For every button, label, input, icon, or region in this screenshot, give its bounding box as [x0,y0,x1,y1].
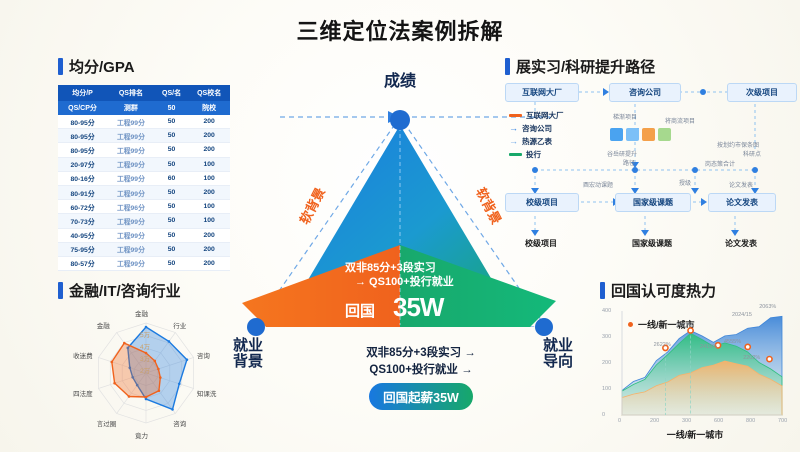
flow-diagram: 互联网大厂 咨询公司 次级项目 校级项目 国家级课题 论文发表 校级项目 国家级… [505,80,795,270]
radar-point [157,368,160,371]
flow-mini-icon-1[interactable] [626,128,639,141]
radar-point [128,395,131,398]
table-head: 均分/P QS排名 QS/名 QS校名 QS/CP分 测群 50 院校 [58,85,230,115]
flow-small-label-4: 路径 [623,158,635,167]
slide-canvas: 三维定位法案例拆解 均分/GPA 均分/P QS排名 QS/名 QS校名 QS/… [0,0,800,452]
caption-pill[interactable]: 回国起薪35W [369,383,473,410]
flow-legend-label: 热源乙表 [522,136,552,147]
table-cell: 50 [155,256,189,270]
y-tick-label: 0 [602,412,605,418]
flow-legend-item[interactable]: →热源乙表 [509,136,552,147]
vertex-dot-right[interactable] [535,318,553,336]
table-row: 75-95分工程99分50200 [58,242,230,256]
radar-axis-label: 金融 [97,320,110,330]
table-row: 80-95分工程99分50200 [58,115,230,129]
th-0: 均分/P [58,85,107,101]
table-cell: 50 [155,228,189,242]
radar-point [123,342,126,345]
area-annotation: 2419% [700,344,717,350]
flow-small-label-9: 论文发表 [729,180,753,189]
flow-caption-1: 国家级课题 [615,235,689,252]
legend-dash-icon [509,153,522,156]
vertex-right-line2: 导向 [528,354,588,370]
radar-point [158,390,161,393]
table-cell: 工程99分 [107,115,155,129]
table-cell: 80-91分 [58,185,107,199]
table-cell: 50 [155,143,189,157]
table-cell: 工程99分 [107,256,155,270]
table-cell: 80-95分 [58,115,107,129]
table-row: 80-16分工程99分60100 [58,171,230,185]
table-row: 20-97分工程99分50100 [58,157,230,171]
table-row: 80-57分工程99分50200 [58,256,230,270]
y-tick-label: 200 [602,360,611,366]
table-row: 80-95分工程99分50200 [58,129,230,143]
table-cell: 工程99分 [107,129,155,143]
table-cell: 60 [155,171,189,185]
flow-small-label-6: 岗态策合计 [705,159,735,168]
triangle-caption: 双非85分+3段实习 → QS100+投行就业 → 回国起薪35W [325,345,517,410]
table-body: 80-95分工程99分5020080-95分工程99分5020080-95分工程… [58,115,230,271]
th2-1: 测群 [107,101,155,115]
x-tick-label: 300 [682,418,691,424]
table-cell: 80-95分 [58,129,107,143]
area-chart: 40030020010000200300600800700 2622%2727%… [600,305,790,440]
radar-point [113,382,116,385]
radar-point [145,396,148,399]
flow-node-bottom-0[interactable]: 校级项目 [505,193,579,212]
center-line2: → QS100+投行就业 [345,276,515,290]
caption-line1: 双非85分+3段实习 → [325,345,517,362]
flow-caption-0: 校级项目 [505,235,577,252]
vertex-label-right: 就业 导向 [528,338,588,370]
table-cell: 50 [155,115,189,129]
flow-mini-icon-2[interactable] [642,128,655,141]
flow-small-label-2: 梯渐项目 [613,112,637,121]
table-cell: 70-73分 [58,214,107,228]
table-cell: 50 [155,214,189,228]
center-line1: 双非85分+3段实习 [345,262,515,276]
center-salary: 35W [393,291,443,324]
radar-chart: 金融行业咨询知课洗咨询竟力言过圈四法度收迷费金融5万4万3万2万 [58,305,233,435]
th-2: QS/名 [155,85,189,101]
table-cell: 20-97分 [58,157,107,171]
flow-bus-dot-0 [532,167,538,173]
radar-point [145,326,148,329]
radar-ring-tick: 3万 [140,353,150,363]
radar-point [154,360,157,363]
table-row: 60-72分工程96分50100 [58,200,230,214]
legend-arrow-icon: → [509,137,518,146]
area-annotation: 2024/15 [732,312,752,318]
radar-point [168,340,171,343]
flow-bus-dot-3 [752,167,758,173]
table-row: 40-95分工程99分50200 [58,228,230,242]
table-cell: 80-95分 [58,143,107,157]
radar-axis-label: 咨询 [173,418,186,428]
radar-point [111,361,114,364]
arrowhead-7 [691,188,699,194]
x-tick-label: 600 [714,418,723,424]
radar-ring-tick: 4万 [140,341,150,351]
table-cell: 50 [155,157,189,171]
table-cell: 75-95分 [58,242,107,256]
flow-node-bottom-1[interactable]: 国家级课题 [615,193,691,212]
table-cell: 工程99分 [107,157,155,171]
flow-small-label-1: 按划约市保条图 [717,140,759,149]
radar-axis-label: 行业 [173,320,186,330]
center-return-label: 回国 [345,303,375,322]
accent-bar [58,58,63,75]
radar-point [186,358,189,361]
vertex-right-line1: 就业 [528,338,588,354]
page-title: 三维定位法案例拆解 [0,14,800,46]
flow-junction-dot [700,89,706,95]
flow-legend-item[interactable]: →咨询公司 [509,123,552,134]
table-cell: 工程96分 [107,200,155,214]
table-cell: 50 [155,185,189,199]
flow-legend-label: 互联网大厂 [526,110,564,121]
flow-small-label-5: 科研点 [743,149,761,158]
table-header-row-2: QS/CP分 测群 50 院校 [58,101,230,115]
radar-axis-label: 四法度 [73,388,93,398]
table-cell: 80-16分 [58,171,107,185]
table-cell: 工程99分 [107,228,155,242]
data-marker[interactable] [745,344,750,349]
table-cell: 工程99分 [107,185,155,199]
flow-panel-title: 展实习/科研提升路径 [505,56,655,77]
flow-small-label-3: 谷岳研提升 [607,149,637,158]
flow-caption-2: 论文发表 [708,235,774,252]
table-cell: 工程99分 [107,143,155,157]
flow-bus-dot-2 [692,167,698,173]
th2-0: QS/CP分 [58,101,107,115]
gpa-table: 均分/P QS排名 QS/名 QS校名 QS/CP分 测群 50 院校 80-9… [58,85,230,271]
radar-axis-label: 咨询 [197,350,210,360]
area-annotation: 2063% [759,304,776,310]
table-cell: 工程99分 [107,171,155,185]
th2-2: 50 [155,101,189,115]
radar-axis-label: 竟力 [135,430,148,440]
table-cell: 50 [155,129,189,143]
accent-bar [58,282,63,299]
table-cell: 50 [155,200,189,214]
radar-panel-title: 金融/IT/咨询行业 [58,280,181,301]
radar-point [171,408,174,411]
flow-legend-item[interactable]: 投行 [509,149,541,160]
table-cell: 40-95分 [58,228,107,242]
arrowhead-10 [701,198,707,206]
flow-legend-label: 咨询公司 [522,123,552,134]
radar-axis-label: 金融 [135,308,148,318]
y-tick-label: 400 [602,308,611,314]
area-annotation: 2622% [654,342,671,348]
flow-legend-label: 投行 [526,149,541,160]
area-title-text: 回国认可度热力 [611,280,716,301]
area-annotation: 2202% [743,355,760,361]
flow-bus-dot-1 [632,167,638,173]
flow-mini-icon-3[interactable] [658,128,671,141]
area-x-axis-title: 一线/新一城市 [600,428,790,441]
radar-axis-label: 收迷费 [73,350,93,360]
flow-mini-icon-0[interactable] [610,128,623,141]
radar-ring-tick: 5万 [140,329,150,339]
area-annotation: 4555% [724,339,741,345]
radar-axis-label: 言过圈 [97,418,117,428]
flow-node-top-2[interactable]: 次级项目 [727,83,797,102]
caption-line2: QS100+投行就业 → [325,362,517,379]
vertex-dot-top[interactable] [390,110,410,130]
flow-small-label-8: 授级 [679,178,691,187]
radar-axis-label: 知课洗 [197,388,217,398]
x-tick-label: 0 [618,418,621,424]
y-tick-label: 300 [602,334,611,340]
gpa-table-wrap: 均分/P QS排名 QS/名 QS校名 QS/CP分 测群 50 院校 80-9… [58,85,230,271]
area-svg [600,305,790,440]
y-tick-label: 100 [602,386,611,392]
accent-bar [505,58,510,75]
flow-legend-item[interactable]: 互联网大厂 [509,110,564,121]
table-cell: 工程99分 [107,242,155,256]
flow-small-label-0: 将商流项目 [665,116,695,125]
table-row: 80-91分工程99分50200 [58,185,230,199]
accent-bar [600,282,605,299]
center-row3: 回国 35W [345,291,515,324]
flow-node-bottom-2[interactable]: 论文发表 [708,193,776,212]
gpa-panel-title: 均分/GPA [58,56,135,77]
x-tick-label: 700 [778,418,787,424]
area-panel-title: 回国认可度热力 [600,280,716,301]
legend-dash-icon [509,114,522,117]
x-tick-label: 800 [746,418,755,424]
th-1: QS排名 [107,85,155,101]
radar-title-text: 金融/IT/咨询行业 [69,280,181,301]
flow-title-text: 展实习/科研提升路径 [516,56,655,77]
table-cell: 50 [155,242,189,256]
table-row: 70-73分工程99分50100 [58,214,230,228]
table-row: 80-95分工程99分50200 [58,143,230,157]
table-header-row-1: 均分/P QS排名 QS/名 QS校名 [58,85,230,101]
radar-point [178,383,181,386]
data-marker[interactable] [767,357,772,362]
radar-point [159,376,162,379]
table-cell: 60-72分 [58,200,107,214]
vertex-label-top: 成绩 [350,74,450,91]
center-callout: 双非85分+3段实习 → QS100+投行就业 回国 35W [345,262,515,323]
flow-node-top-0[interactable]: 互联网大厂 [505,83,579,102]
table-cell: 80-57分 [58,256,107,270]
flow-node-top-1[interactable]: 咨询公司 [609,83,681,102]
area-annotation: 2727% [676,323,693,329]
flow-small-label-7: 酉宏动课题 [583,180,613,189]
gpa-title-text: 均分/GPA [69,56,135,77]
x-tick-label: 200 [650,418,659,424]
table-cell: 工程99分 [107,214,155,228]
legend-arrow-icon: → [509,124,518,133]
radar-ring-tick: 2万 [140,365,150,375]
vertex-dot-left[interactable] [247,318,265,336]
